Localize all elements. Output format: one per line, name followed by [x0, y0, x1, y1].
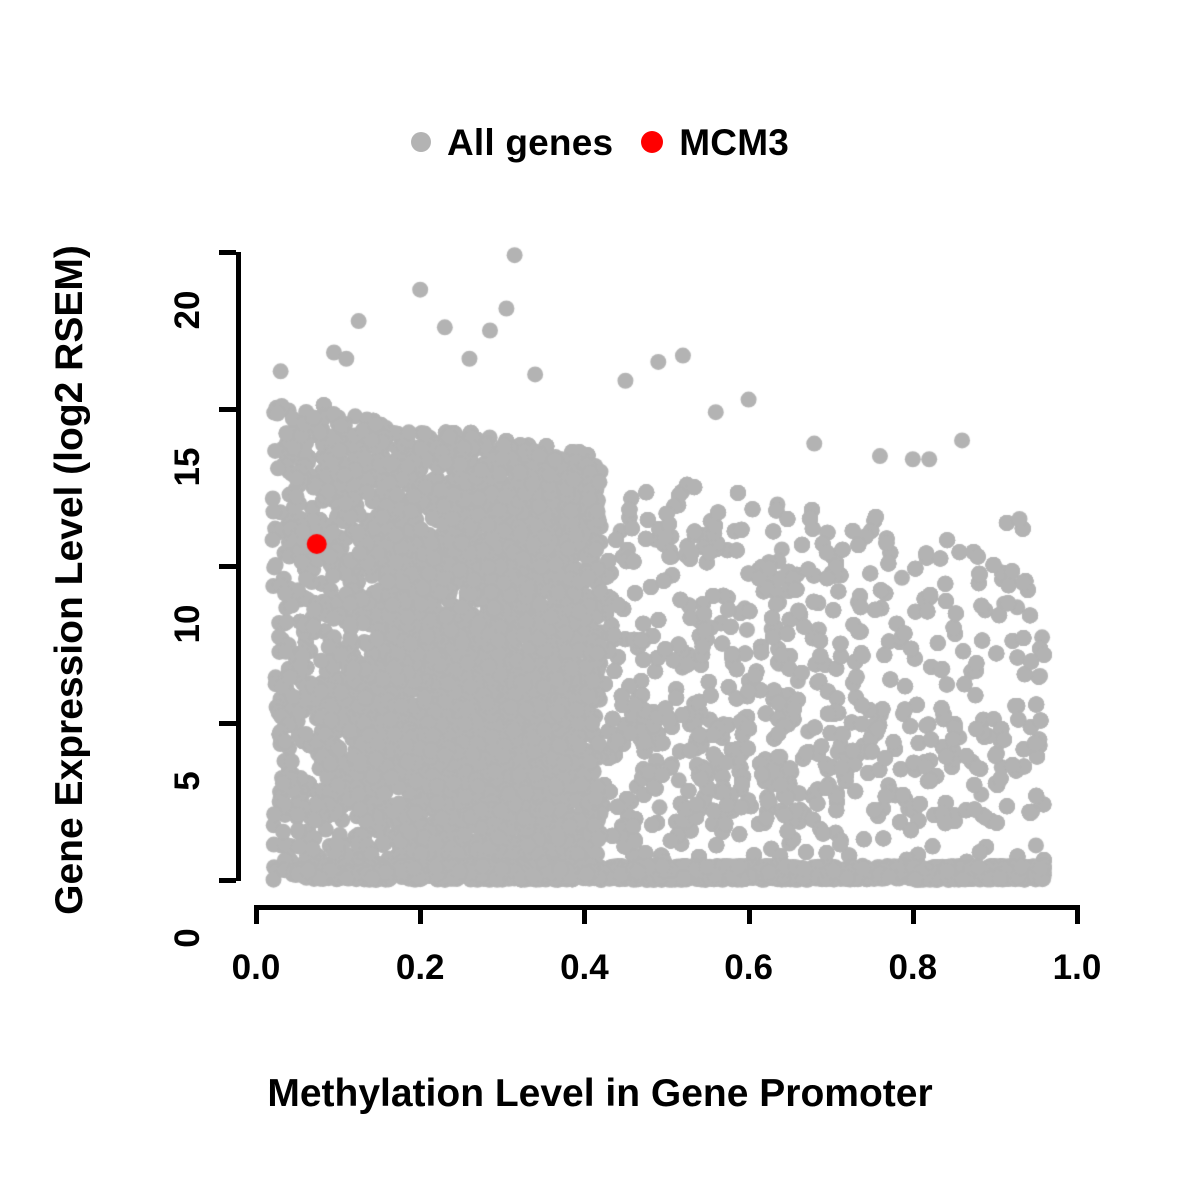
x-tick-label-1.0: 1.0 [1017, 948, 1137, 988]
y-tick-label-10: 10 [168, 564, 208, 684]
x-tick-label-0.0: 0.0 [196, 948, 316, 988]
x-tick-1.0 [1075, 905, 1080, 924]
y-axis-line [236, 252, 241, 881]
scatter-plot-figure: All genes MCM3 051015200.00.20.40.60.81.… [0, 0, 1200, 1200]
y-tick-0 [219, 878, 236, 883]
x-tick-label-0.8: 0.8 [853, 948, 973, 988]
y-tick-label-15: 15 [168, 407, 208, 527]
y-tick-10 [219, 564, 236, 569]
x-axis-title: Methylation Level in Gene Promoter [0, 1072, 1200, 1116]
x-tick-label-0.6: 0.6 [689, 948, 809, 988]
y-tick-20 [219, 250, 236, 255]
y-tick-label-5: 5 [168, 721, 208, 841]
x-tick-0.0 [254, 905, 259, 924]
x-tick-0.2 [418, 905, 423, 924]
x-tick-0.4 [582, 905, 587, 924]
y-tick-15 [219, 407, 236, 412]
y-axis-title: Gene Expression Level (log2 RSEM) [48, 170, 92, 990]
x-tick-label-0.2: 0.2 [360, 948, 480, 988]
x-tick-0.6 [747, 905, 752, 924]
y-tick-5 [219, 721, 236, 726]
x-tick-label-0.4: 0.4 [524, 948, 644, 988]
x-axis-line [256, 905, 1078, 910]
x-tick-0.8 [911, 905, 916, 924]
y-tick-label-20: 20 [168, 250, 208, 370]
